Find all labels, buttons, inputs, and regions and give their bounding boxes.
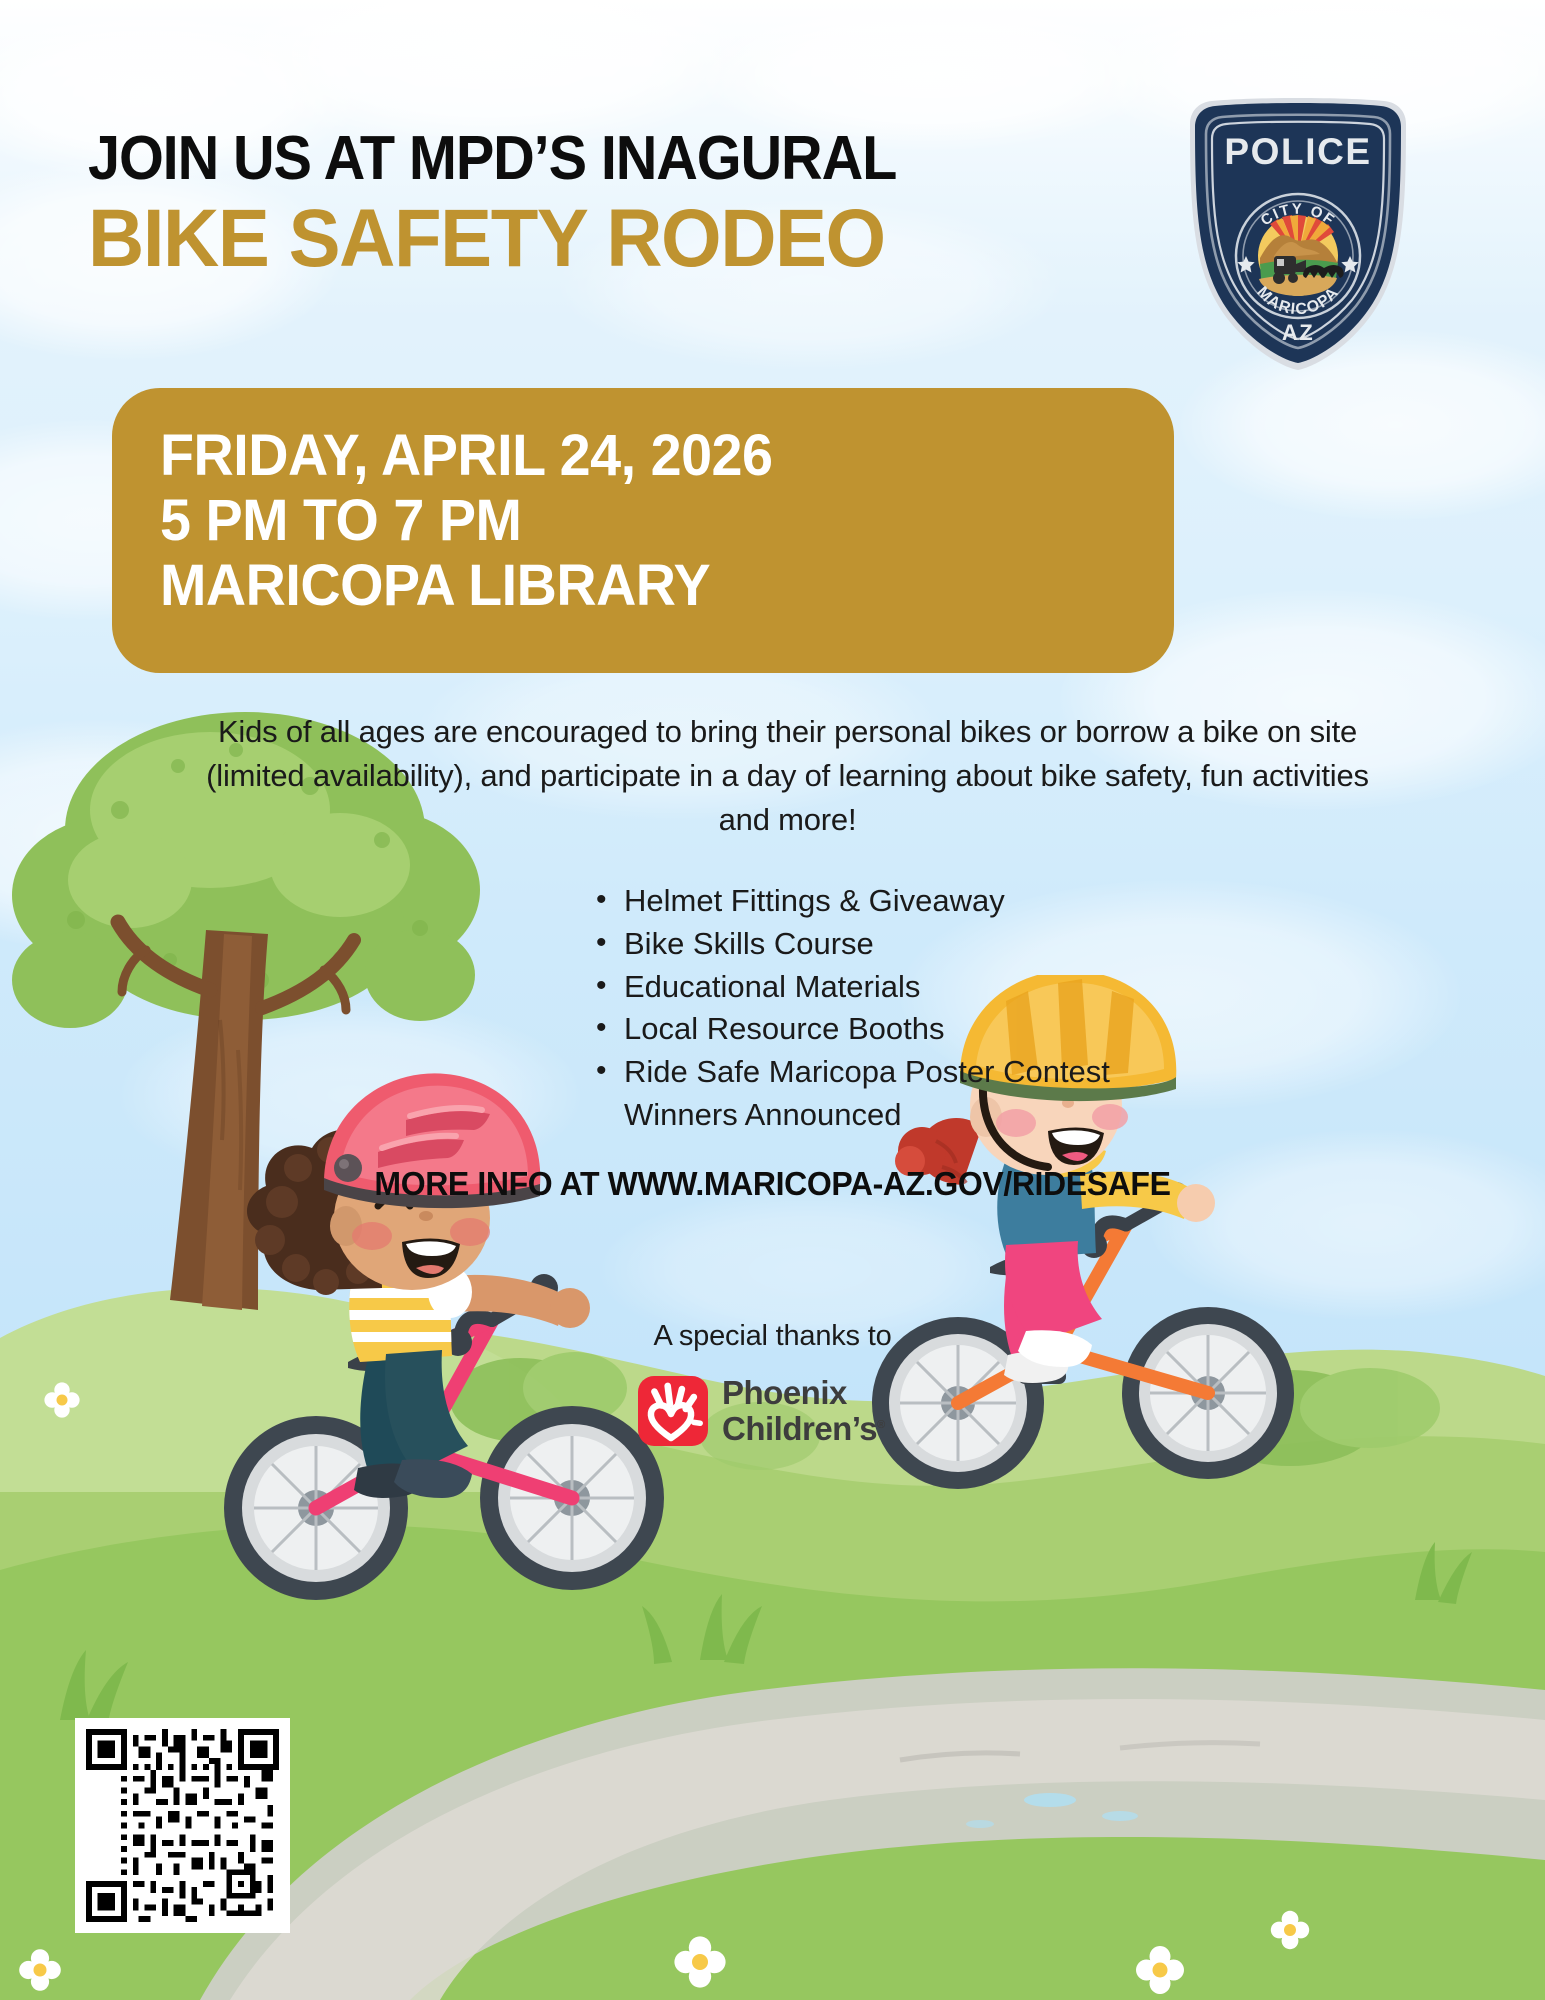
sponsor-trademark: ®	[877, 1419, 885, 1431]
headline-main: BIKE SAFETY RODEO	[88, 198, 885, 280]
maricopa-police-badge: POLICE	[1182, 98, 1414, 370]
sponsor-name-line1: Phoenix	[722, 1375, 885, 1411]
event-details-box: FRIDAY, APRIL 24, 2026 5 PM TO 7 PM MARI…	[112, 388, 1174, 673]
badge-police-text: POLICE	[1224, 131, 1371, 172]
sponsor-name-line2: Children’s	[722, 1410, 877, 1447]
event-description: Kids of all ages are encouraged to bring…	[190, 710, 1385, 842]
headline-top: JOIN US AT MPD’S INAGURAL	[88, 128, 896, 190]
poster-canvas: JOIN US AT MPD’S INAGURAL BIKE SAFETY RO…	[0, 0, 1545, 2000]
phoenix-childrens-logo: Phoenix Children’s®	[638, 1375, 885, 1448]
list-item: Bike Skills Course	[592, 923, 1110, 966]
ride-safe-qr-code[interactable]	[75, 1718, 290, 1933]
event-location: MARICOPA LIBRARY	[160, 554, 1133, 619]
activities-list: Helmet Fittings & Giveaway Bike Skills C…	[592, 880, 1110, 1137]
phoenix-childrens-wordmark: Phoenix Children’s®	[722, 1375, 885, 1448]
badge-state-text: AZ	[1282, 320, 1314, 345]
sponsor-intro-text: A special thanks to	[0, 1320, 1545, 1353]
phoenix-childrens-hand-heart-icon	[638, 1376, 708, 1446]
list-item: Educational Materials	[592, 966, 1110, 1009]
list-item: Local Resource Booths	[592, 1008, 1110, 1051]
event-date: FRIDAY, APRIL 24, 2026	[160, 424, 1133, 489]
more-info-url[interactable]: MORE INFO AT WWW.MARICOPA-AZ.GOV/RIDESAF…	[23, 1165, 1522, 1203]
list-item: Helmet Fittings & Giveaway	[592, 880, 1110, 923]
list-item: Ride Safe Maricopa Poster Contest Winner…	[592, 1051, 1110, 1137]
event-time: 5 PM TO 7 PM	[160, 489, 1133, 554]
